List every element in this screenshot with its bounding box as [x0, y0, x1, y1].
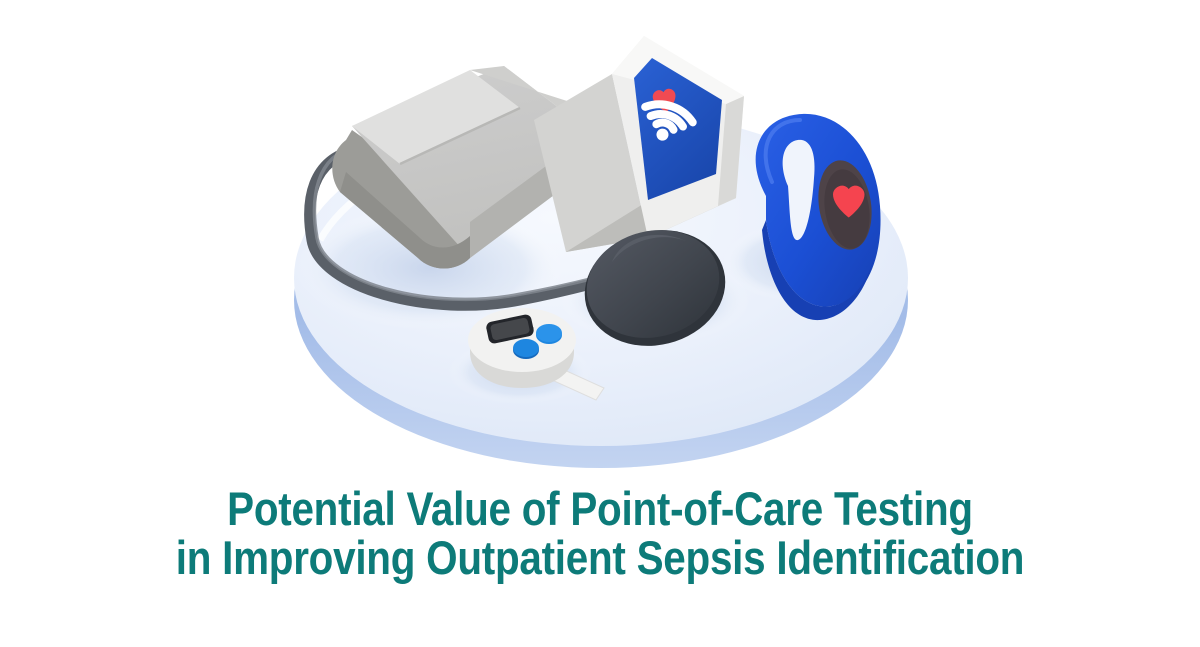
meter-button-1-top[interactable] — [536, 324, 562, 342]
meter-button-2-top[interactable] — [513, 339, 539, 357]
page-title-line-2: in Improving Outpatient Sepsis Identific… — [84, 533, 1116, 582]
poster-page: Potential Value of Point-of-Care Testing… — [0, 0, 1200, 647]
illustration-svg — [0, 0, 1200, 480]
page-title: Potential Value of Point-of-Care Testing… — [0, 484, 1200, 582]
illustration-point-of-care-devices — [0, 0, 1200, 480]
page-title-line-1: Potential Value of Point-of-Care Testing — [84, 484, 1116, 533]
